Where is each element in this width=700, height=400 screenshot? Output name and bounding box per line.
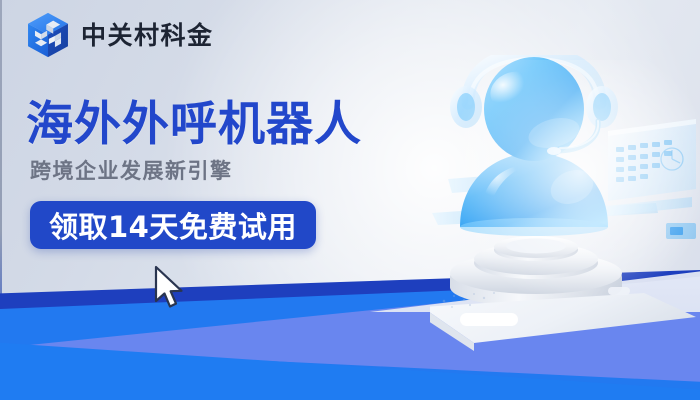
- promo-banner: 中关村科金 海外外呼机器人 跨境企业发展新引擎 领取14天免费试用: [0, 0, 700, 400]
- brand-name: 中关村科金: [81, 23, 214, 48]
- mascot-body: [460, 153, 608, 236]
- cube-logo-icon: [26, 12, 70, 58]
- hero-subtitle: 跨境企业发展新引擎: [30, 161, 446, 182]
- glass-data-panel: [596, 119, 696, 239]
- pedestal-platform: [430, 236, 696, 351]
- hero-copy: 海外外呼机器人 跨境企业发展新引擎 领取14天免费试用: [26, 100, 446, 249]
- mascot-illustration: [430, 55, 700, 355]
- page-title: 海外外呼机器人: [26, 100, 446, 151]
- free-trial-cta-button[interactable]: 领取14天免费试用: [30, 201, 316, 249]
- brand-logo[interactable]: 中关村科金: [26, 12, 214, 58]
- mascot-head: [450, 55, 618, 161]
- illustration-scene: [430, 55, 700, 355]
- mouse-cursor-icon: [152, 265, 186, 311]
